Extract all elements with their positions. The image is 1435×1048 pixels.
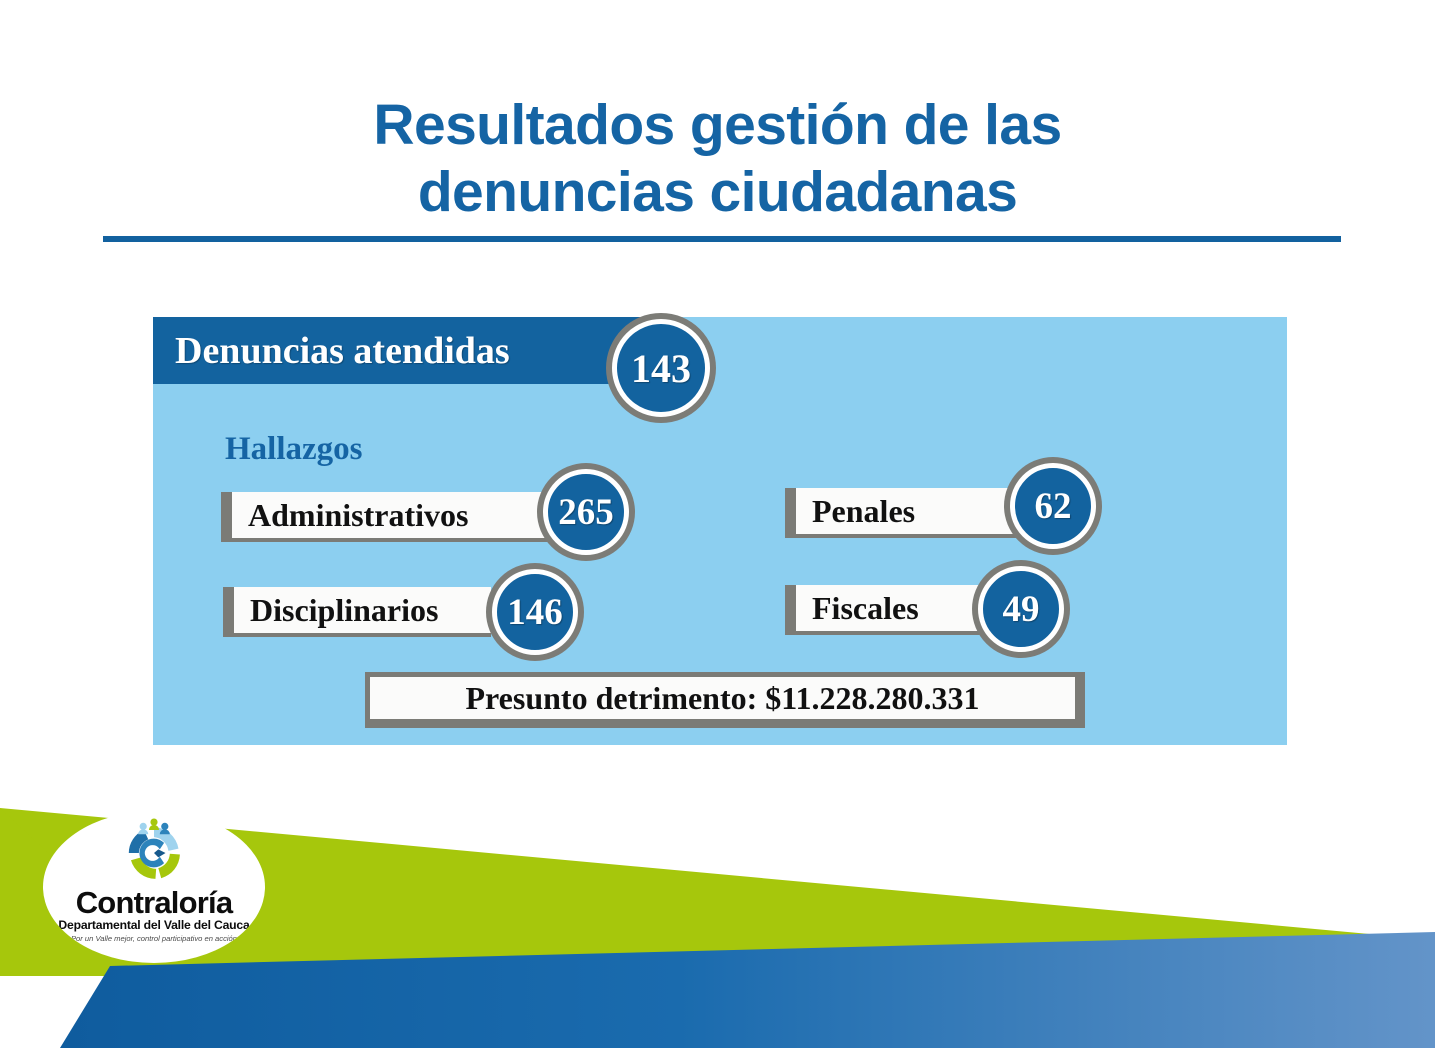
badge-administrativos-value: 265 [558, 491, 614, 534]
item-disciplinarios-label: Disciplinarios [234, 592, 438, 629]
title-line-2: denuncias ciudadanas [0, 159, 1435, 226]
badge-penales: 62 [1010, 463, 1096, 549]
badge-disciplinarios: 146 [492, 569, 578, 655]
logo-name: Contraloría [76, 887, 233, 918]
badge-disciplinarios-value: 146 [507, 591, 563, 634]
title-line-1: Resultados gestión de las [0, 92, 1435, 159]
item-administrativos-label: Administrativos [232, 497, 468, 534]
badge-administrativos: 265 [543, 469, 629, 555]
logo-subtitle: Departamental del Valle del Cauca [58, 919, 249, 932]
badge-fiscales: 49 [978, 566, 1064, 652]
contraloria-emblem-icon [118, 817, 190, 889]
results-panel: Denuncias atendidas 143 Hallazgos Admini… [153, 317, 1287, 745]
badge-penales-value: 62 [1035, 485, 1072, 528]
item-penales-label: Penales [796, 493, 915, 530]
denuncias-atendidas-label: Denuncias atendidas [153, 329, 510, 373]
title-divider [103, 236, 1341, 242]
badge-denuncias-atendidas: 143 [612, 319, 710, 417]
page-title: Resultados gestión de las denuncias ciud… [0, 92, 1435, 227]
item-disciplinarios: Disciplinarios [223, 587, 491, 637]
item-fiscales-label: Fiscales [796, 590, 919, 627]
denuncias-atendidas-bar: Denuncias atendidas [153, 317, 666, 384]
contraloria-logo: Contraloría Departamental del Valle del … [43, 811, 265, 963]
slide-canvas: Resultados gestión de las denuncias ciud… [0, 0, 1435, 1048]
badge-denuncias-atendidas-value: 143 [631, 345, 691, 392]
item-administrativos: Administrativos [221, 492, 561, 542]
hallazgos-label: Hallazgos [225, 431, 363, 468]
presunto-detrimento-text: Presunto detrimento: $11.228.280.331 [465, 680, 979, 717]
badge-fiscales-value: 49 [1003, 588, 1040, 631]
presunto-detrimento-box: Presunto detrimento: $11.228.280.331 [365, 672, 1085, 728]
logo-tagline: Por un Valle mejor, control participativ… [71, 934, 237, 943]
item-penales: Penales [785, 488, 1045, 538]
